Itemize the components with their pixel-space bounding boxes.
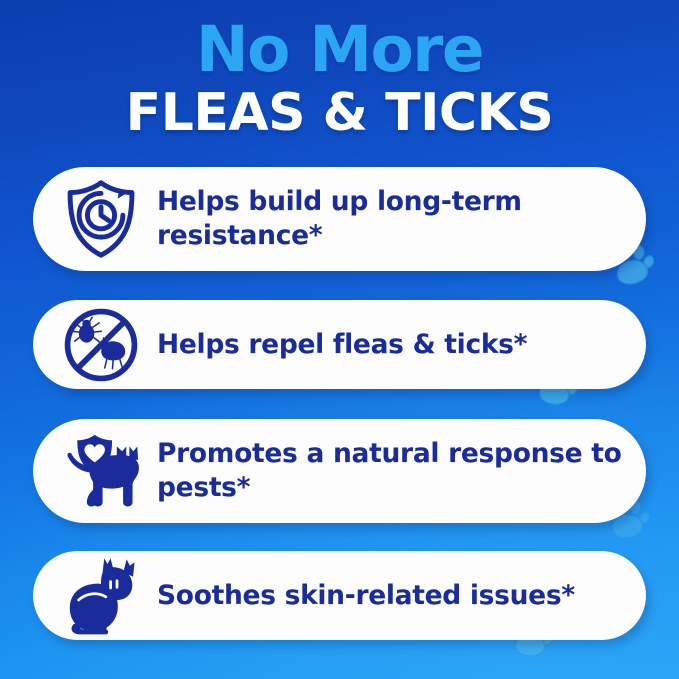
- benefit-card: Helps repel fleas & ticks*: [33, 300, 646, 389]
- benefit-card-text: Soothes skin-related issues*: [147, 579, 628, 613]
- headline-line-1: No More: [0, 16, 679, 84]
- page-title: No More FLEAS & TICKS: [0, 16, 679, 141]
- benefit-card: Soothes skin-related issues*: [33, 551, 646, 640]
- shield-clock-icon: [55, 173, 147, 265]
- benefit-card: Promotes a natural response to pests*: [33, 419, 646, 523]
- benefit-card: Helps build up long-term resistance*: [33, 167, 646, 271]
- headline-line-2: FLEAS & TICKS: [0, 85, 679, 141]
- benefit-card-text: Helps repel fleas & ticks*: [147, 328, 628, 362]
- poster-canvas: No More FLEAS & TICKS: [0, 0, 679, 679]
- benefit-card-text: Helps build up long-term resistance*: [147, 185, 628, 253]
- benefit-card-text: Promotes a natural response to pests*: [147, 437, 628, 505]
- cat-shield-icon: [55, 425, 147, 517]
- cat-scratching-icon: [55, 550, 147, 642]
- no-pests-icon: [55, 299, 147, 391]
